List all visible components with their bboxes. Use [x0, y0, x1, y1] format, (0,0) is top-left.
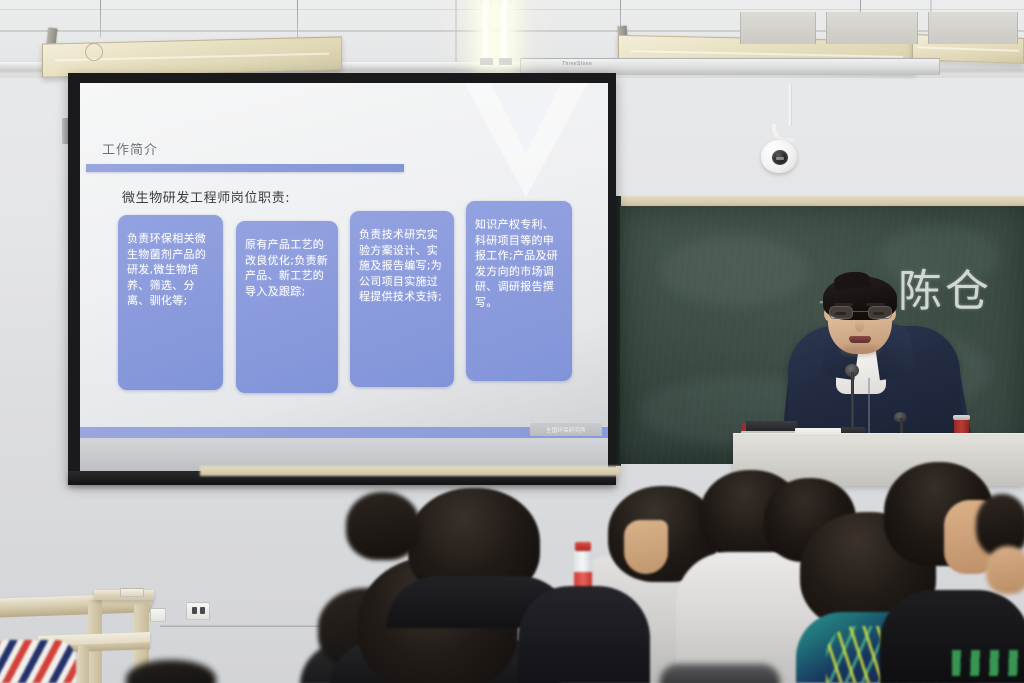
student-back-head-4 — [346, 492, 420, 560]
slide-footer-tag: 全国环保研究所 — [530, 423, 602, 436]
slide-title-underline — [86, 164, 404, 172]
water-bottle-cap — [575, 542, 591, 551]
tube-lamp-cap — [480, 58, 493, 65]
lectern-panel-right — [928, 12, 1018, 44]
projector-brand-label: ThreeStone — [562, 61, 592, 67]
chalkboard-writing: 陈仓 — [898, 255, 992, 319]
slide-content-boxes: 负责环保相关微生物菌剂产品的研发,微生物培养、筛选、分离、驯化等; 原有产品工艺… — [118, 211, 588, 401]
slide-box-3-text: 负责技术研究实验方案设计、实施及报告编写;为公司项目实施过程提供技术支持; — [359, 227, 445, 305]
tube-lamp — [501, 0, 510, 66]
front-desk-ledge — [200, 466, 620, 476]
wall-cable — [160, 625, 330, 627]
foreground-chair-back — [660, 664, 780, 683]
projector-screen: 工作简介 微生物研发工程师岗位职责: 负责环保相关微生物菌剂产品的研发,微生物培… — [68, 73, 616, 483]
slide-title: 工作简介 — [102, 139, 158, 158]
microphone-stand — [851, 372, 854, 430]
eyeglass-bridge — [853, 311, 868, 312]
slide-bottom-accent-band — [80, 427, 608, 438]
student-hand-raised — [624, 520, 668, 574]
slide-box-2: 原有产品工艺的改良优化;负责新产品、新工艺的导入及跟踪; — [236, 221, 338, 393]
slide-box-4: 知识产权专利、科研项目等的申报工作;产品及研发方向的市场调研、调研报告撰写。 — [466, 201, 572, 381]
lectern-panel-left — [740, 12, 816, 44]
slide-box-3: 负责技术研究实验方案设计、实施及报告编写;为公司项目实施过程提供技术支持; — [350, 211, 454, 387]
speaker-eye-left — [835, 312, 846, 315]
socket-slot-left — [192, 607, 197, 614]
slide-box-1: 负责环保相关微生物菌剂产品的研发,微生物培养、筛选、分离、驯化等; — [118, 215, 223, 390]
wall-power-socket — [186, 602, 210, 620]
light-hanger-wire — [100, 0, 101, 38]
speaker-eye-right — [873, 312, 884, 315]
slide-decoration-triangle-inner — [490, 83, 562, 153]
speaker-chin-shadow — [840, 345, 880, 356]
lectern-panel-center — [826, 12, 918, 44]
knit-garment — [0, 640, 76, 683]
shirt-green-print — [952, 650, 1024, 676]
camera-mount-pole — [788, 84, 792, 126]
ceiling-seam-upper — [0, 9, 1024, 10]
student-dark-jacket — [518, 586, 650, 683]
speaker-jacket-zip — [868, 378, 870, 436]
light-hanger-wire — [297, 0, 298, 40]
slide-box-4-text: 知识产权专利、科研项目等的申报工作;产品及研发方向的市场调研、调研报告撰写。 — [475, 217, 563, 310]
socket-slot-right — [200, 607, 205, 614]
wall-junction-box — [150, 608, 166, 622]
tube-lamp-cap — [499, 58, 512, 65]
bench-leg — [78, 645, 89, 683]
slide-box-1-text: 负责环保相关微生物菌剂产品的研发,微生物培养、筛选、分离、驯化等; — [127, 231, 214, 309]
slide-subtitle: 微生物研发工程师岗位职责: — [122, 187, 290, 206]
presentation-slide: 工作简介 微生物研发工程师岗位职责: 负责环保相关微生物菌剂产品的研发,微生物培… — [80, 83, 608, 474]
classroom-scene: ThreeStone 陈仓 十 工作简介 微生物研发工程师岗位职责: — [0, 0, 1024, 683]
student-back-head-11 — [986, 546, 1024, 594]
speaker-mouth — [849, 336, 871, 343]
camera-lens-icon — [772, 150, 788, 165]
light-ring-fitting — [85, 43, 103, 61]
desk-small-box — [120, 588, 144, 597]
wall-joint-line — [455, 0, 457, 70]
speaker-nose — [855, 320, 864, 332]
tube-lamp — [482, 0, 491, 66]
red-cup-lid — [953, 415, 970, 420]
screen-surface: 工作简介 微生物研发工程师岗位职责: 负责环保相关微生物菌剂产品的研发,微生物培… — [80, 83, 608, 474]
slide-box-2-text: 原有产品工艺的改良优化;负责新产品、新工艺的导入及跟踪; — [245, 237, 329, 299]
